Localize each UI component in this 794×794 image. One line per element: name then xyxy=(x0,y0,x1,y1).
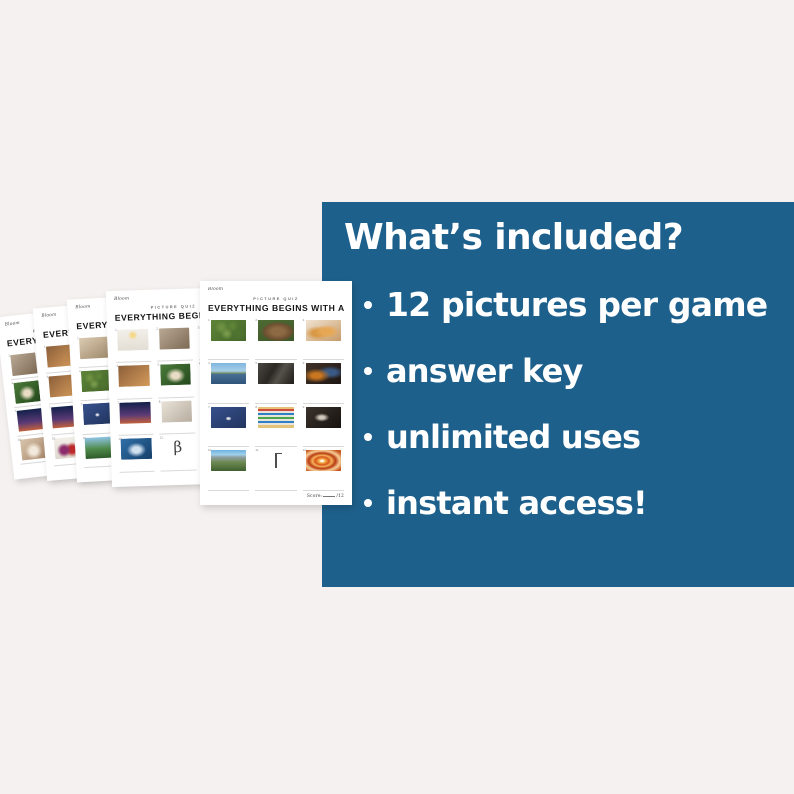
picture-cell: 11.β xyxy=(160,435,196,472)
picture-cell-number: 4. xyxy=(116,364,119,368)
included-feature-list: 12 pictures per gameanswer keyunlimited … xyxy=(364,288,788,553)
picture-cell: 7. xyxy=(117,400,153,437)
score-row: Score:/12 xyxy=(208,494,344,499)
picture-thumbnail xyxy=(211,320,247,341)
bullet-dot-icon xyxy=(364,367,372,375)
worksheet-card-stack: Bloom PICTURE QUIZ EVERYTHING BEGINS WIT… xyxy=(0,0,400,794)
picture-thumbnail xyxy=(10,352,37,376)
feature-list-item: unlimited uses xyxy=(364,421,788,453)
picture-thumbnail xyxy=(83,403,112,426)
feature-list-item-label: answer key xyxy=(386,355,583,387)
picture-thumbnail xyxy=(306,363,342,384)
score-blank xyxy=(323,496,335,497)
page-title: What’s included? xyxy=(344,217,683,258)
picture-cell-number: 1. xyxy=(77,336,80,340)
picture-cell: 6. xyxy=(303,361,344,404)
bullet-dot-icon xyxy=(364,499,372,507)
picture-cell: 4. xyxy=(116,363,152,400)
picture-cell-number: 7. xyxy=(208,405,211,409)
picture-cell-number: 7. xyxy=(81,402,84,406)
picture-cell-number: 8. xyxy=(255,405,258,409)
picture-cell: 12. xyxy=(303,448,344,491)
picture-cell: 1. xyxy=(115,326,151,363)
feature-list-item-label: 12 pictures per game xyxy=(386,288,767,321)
picture-cell: 4. xyxy=(208,361,249,404)
picture-cell-number: 2. xyxy=(255,318,258,322)
picture-thumbnail xyxy=(120,402,151,424)
picture-cell-number: 10. xyxy=(118,437,122,441)
picture-cell: 1. xyxy=(8,350,40,381)
picture-cell-number: 7. xyxy=(117,401,120,405)
picture-cell: 10. xyxy=(118,436,154,473)
picture-cell: 5. xyxy=(255,361,296,404)
feature-list-item-label: unlimited uses xyxy=(386,421,640,453)
picture-thumbnail xyxy=(13,380,40,404)
picture-cell-number: 1. xyxy=(208,318,211,322)
picture-cell: 11. xyxy=(255,448,296,491)
feature-list-item: instant access! xyxy=(364,487,788,519)
picture-cell-number: 9. xyxy=(303,405,306,409)
picture-thumbnail xyxy=(306,407,342,428)
picture-cell-number: 4. xyxy=(11,381,14,385)
picture-cell-number: 3. xyxy=(303,318,306,322)
picture-cell-number: 5. xyxy=(157,363,160,367)
card-title: EVERYTHING BEGINS WITH A xyxy=(208,304,344,313)
picture-cell-number: 1. xyxy=(115,327,118,331)
picture-thumbnail xyxy=(118,328,149,350)
picture-thumbnail xyxy=(258,320,294,341)
picture-thumbnail xyxy=(119,365,150,387)
picture-cell-number: 4. xyxy=(46,375,49,379)
picture-cell-number: 11. xyxy=(255,448,259,452)
picture-cell-number: 1. xyxy=(8,353,11,357)
picture-cell-number: 10. xyxy=(52,436,56,440)
picture-cell-number: 11. xyxy=(160,436,164,440)
picture-cell-number: 10. xyxy=(208,448,212,452)
picture-thumbnail xyxy=(81,369,110,392)
picture-thumbnail: β xyxy=(162,437,193,459)
picture-cell-number: 8. xyxy=(159,399,162,403)
picture-thumbnail xyxy=(211,450,247,471)
whats-included-panel: What’s included? 12 pictures per gameans… xyxy=(322,202,794,587)
score-label: Score: xyxy=(307,494,323,499)
bullet-dot-icon xyxy=(364,433,372,441)
picture-cell: 2. xyxy=(255,318,296,361)
feature-list-item: answer key xyxy=(364,355,788,387)
picture-cell-number: 12. xyxy=(303,448,307,452)
worksheet-card-front[interactable]: Bloom PICTURE QUIZ EVERYTHING BEGINS WIT… xyxy=(200,281,352,505)
picture-thumbnail xyxy=(306,320,342,341)
picture-thumbnail xyxy=(79,336,108,359)
picture-cell: 8. xyxy=(159,398,195,435)
picture-cell: 8. xyxy=(255,405,296,448)
picture-thumbnail xyxy=(258,450,294,471)
feature-list-item: 12 pictures per game xyxy=(364,288,788,321)
picture-cell: 10. xyxy=(208,448,249,491)
picture-thumbnail xyxy=(159,327,190,349)
picture-cell: 1. xyxy=(208,318,249,361)
bullet-dot-icon xyxy=(364,301,372,309)
picture-cell: 3. xyxy=(303,318,344,361)
promo-graphic: Bloom PICTURE QUIZ EVERYTHING BEGINS WIT… xyxy=(0,0,794,794)
picture-grid: 1.2.3.4.5.6.7.8.9.10.11.12. xyxy=(208,318,344,492)
picture-thumbnail xyxy=(17,408,44,432)
picture-cell-number: 10. xyxy=(82,436,86,440)
score-total: /12 xyxy=(336,494,344,499)
picture-thumbnail xyxy=(211,407,247,428)
picture-cell: 9. xyxy=(303,405,344,448)
picture-cell: 5. xyxy=(157,362,193,399)
picture-thumbnail xyxy=(161,400,192,422)
picture-cell-number: 2. xyxy=(156,326,159,330)
picture-thumbnail xyxy=(121,438,152,460)
picture-cell-number: 7. xyxy=(14,409,17,413)
picture-cell-number: 1. xyxy=(44,344,47,348)
picture-cell-number: 10. xyxy=(18,437,23,441)
picture-thumbnail xyxy=(258,363,294,384)
picture-cell-number: 5. xyxy=(255,361,258,365)
picture-thumbnail xyxy=(211,363,247,384)
picture-cell: 1. xyxy=(77,334,111,368)
picture-cell-number: 6. xyxy=(303,361,306,365)
picture-thumbnail xyxy=(306,450,342,471)
picture-cell: 2. xyxy=(156,325,192,362)
picture-thumbnail xyxy=(160,364,191,386)
picture-thumbnail xyxy=(258,407,294,428)
picture-cell-number: 7. xyxy=(49,406,52,410)
feature-list-item-label: instant access! xyxy=(386,487,647,519)
picture-cell: 7. xyxy=(208,405,249,448)
card-logo: Bloom xyxy=(208,288,344,292)
picture-cell-number: 4. xyxy=(79,369,82,373)
card-kicker: PICTURE QUIZ xyxy=(208,296,344,301)
picture-cell-number: 4. xyxy=(208,361,211,365)
